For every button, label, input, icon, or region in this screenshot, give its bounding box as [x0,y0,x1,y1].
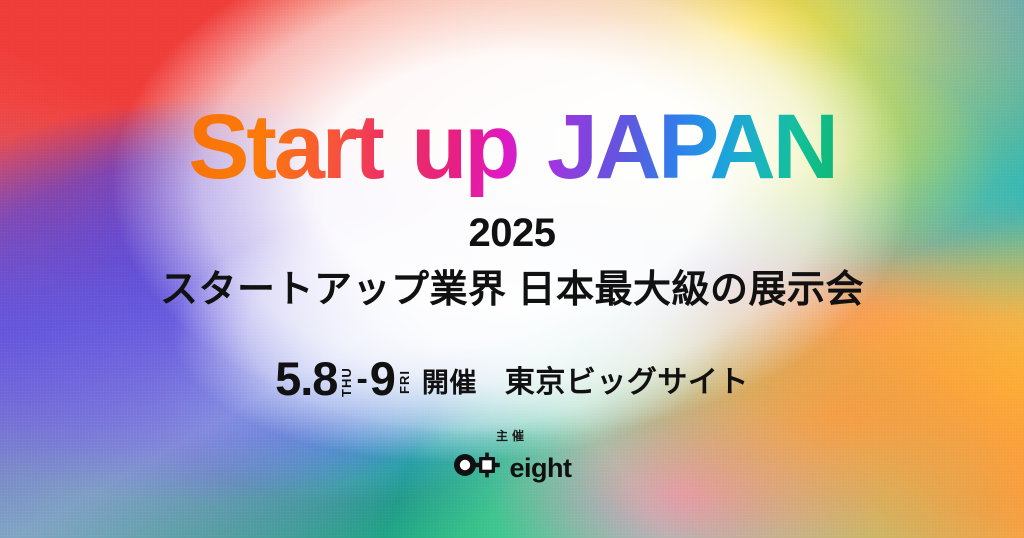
date-start-dow: THU [340,364,353,400]
event-venue: 東京ビッグサイト [505,366,749,399]
date-separator: - [356,359,367,399]
date-end-day: 9 [370,355,395,402]
date-end-dow: FRI [398,364,411,400]
eight-logo-icon [453,452,501,483]
organizer-block: 主催 eight [0,428,1024,483]
title-part-up: up [411,96,517,198]
event-poster: Start up JAPAN 2025 スタートアップ業界 日本最大級の展示会 … [0,0,1024,538]
event-year: 2025 [0,210,1024,256]
page-title: Start up JAPAN [188,97,836,197]
event-tagline: スタートアップ業界 日本最大級の展示会 [0,266,1024,314]
main-title-wrapper: Start up JAPAN [0,97,1024,197]
date-start-day: 5.8 [275,355,337,402]
poster-content: Start up JAPAN 2025 スタートアップ業界 日本最大級の展示会 … [0,0,1024,538]
title-space-2 [517,96,547,198]
title-part-start: Start [188,96,382,198]
date-held-label: 開催 [422,368,477,398]
title-part-japan: JAPAN [547,96,836,198]
title-space-1 [382,96,412,198]
event-dateline: 5.8 THU - 9 FRI 開催 東京ビッグサイト [0,348,1024,402]
organizer-label: 主催 [0,428,1024,444]
eight-wordmark: eight [510,454,572,482]
organizer-logo: eight [0,452,1024,483]
